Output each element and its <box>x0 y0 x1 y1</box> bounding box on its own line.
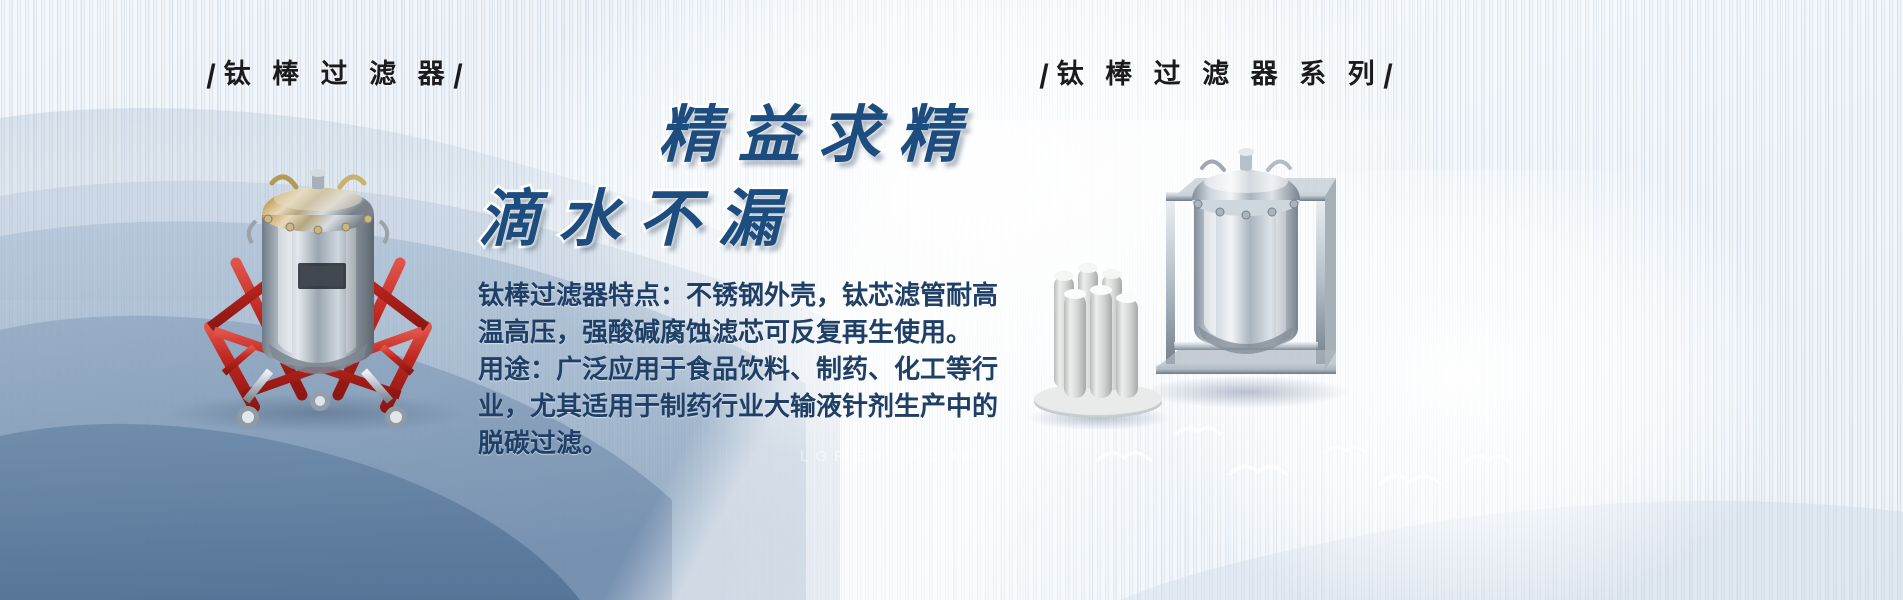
heading-right-text: 钛 棒 过 滤 器 系 列 <box>1057 59 1382 89</box>
description-line-2: 温高压，强酸碱腐蚀滤芯可反复再生使用。 <box>478 315 998 352</box>
heading-right-bar-end: | <box>1378 59 1403 90</box>
headline-line-1: 精益求精 <box>658 84 978 174</box>
product-image-filter-rods <box>1020 250 1180 430</box>
decorative-birds-icon <box>1080 418 1540 508</box>
heading-left-bar-end: | <box>448 59 473 90</box>
description-line-3: 用途：广泛应用于食品饮料、制药、化工等行 <box>478 352 998 389</box>
description-line-1: 钛棒过滤器特点：不锈钢外壳，钛芯滤管耐高 <box>478 278 998 315</box>
heading-left: |钛 棒 过 滤 器| <box>205 52 470 91</box>
heading-left-text: 钛 棒 过 滤 器 <box>224 59 452 89</box>
product-description: 钛棒过滤器特点：不锈钢外壳，钛芯滤管耐高 温高压，强酸碱腐蚀滤芯可反复再生使用。… <box>478 278 998 463</box>
heading-right: |钛 棒 过 滤 器 系 列| <box>1038 52 1400 91</box>
description-line-4: 业，尤其适用于制药行业大输液针剂生产中的 <box>478 389 998 426</box>
watermark-text: LOREM IPSUM <box>800 448 982 465</box>
product-image-left <box>150 95 480 435</box>
product-banner: |钛 棒 过 滤 器| |钛 棒 过 滤 器 系 列| 精益求精 滴水不漏 钛棒… <box>0 0 1903 600</box>
headline-line-2: 滴水不漏 <box>478 168 798 258</box>
